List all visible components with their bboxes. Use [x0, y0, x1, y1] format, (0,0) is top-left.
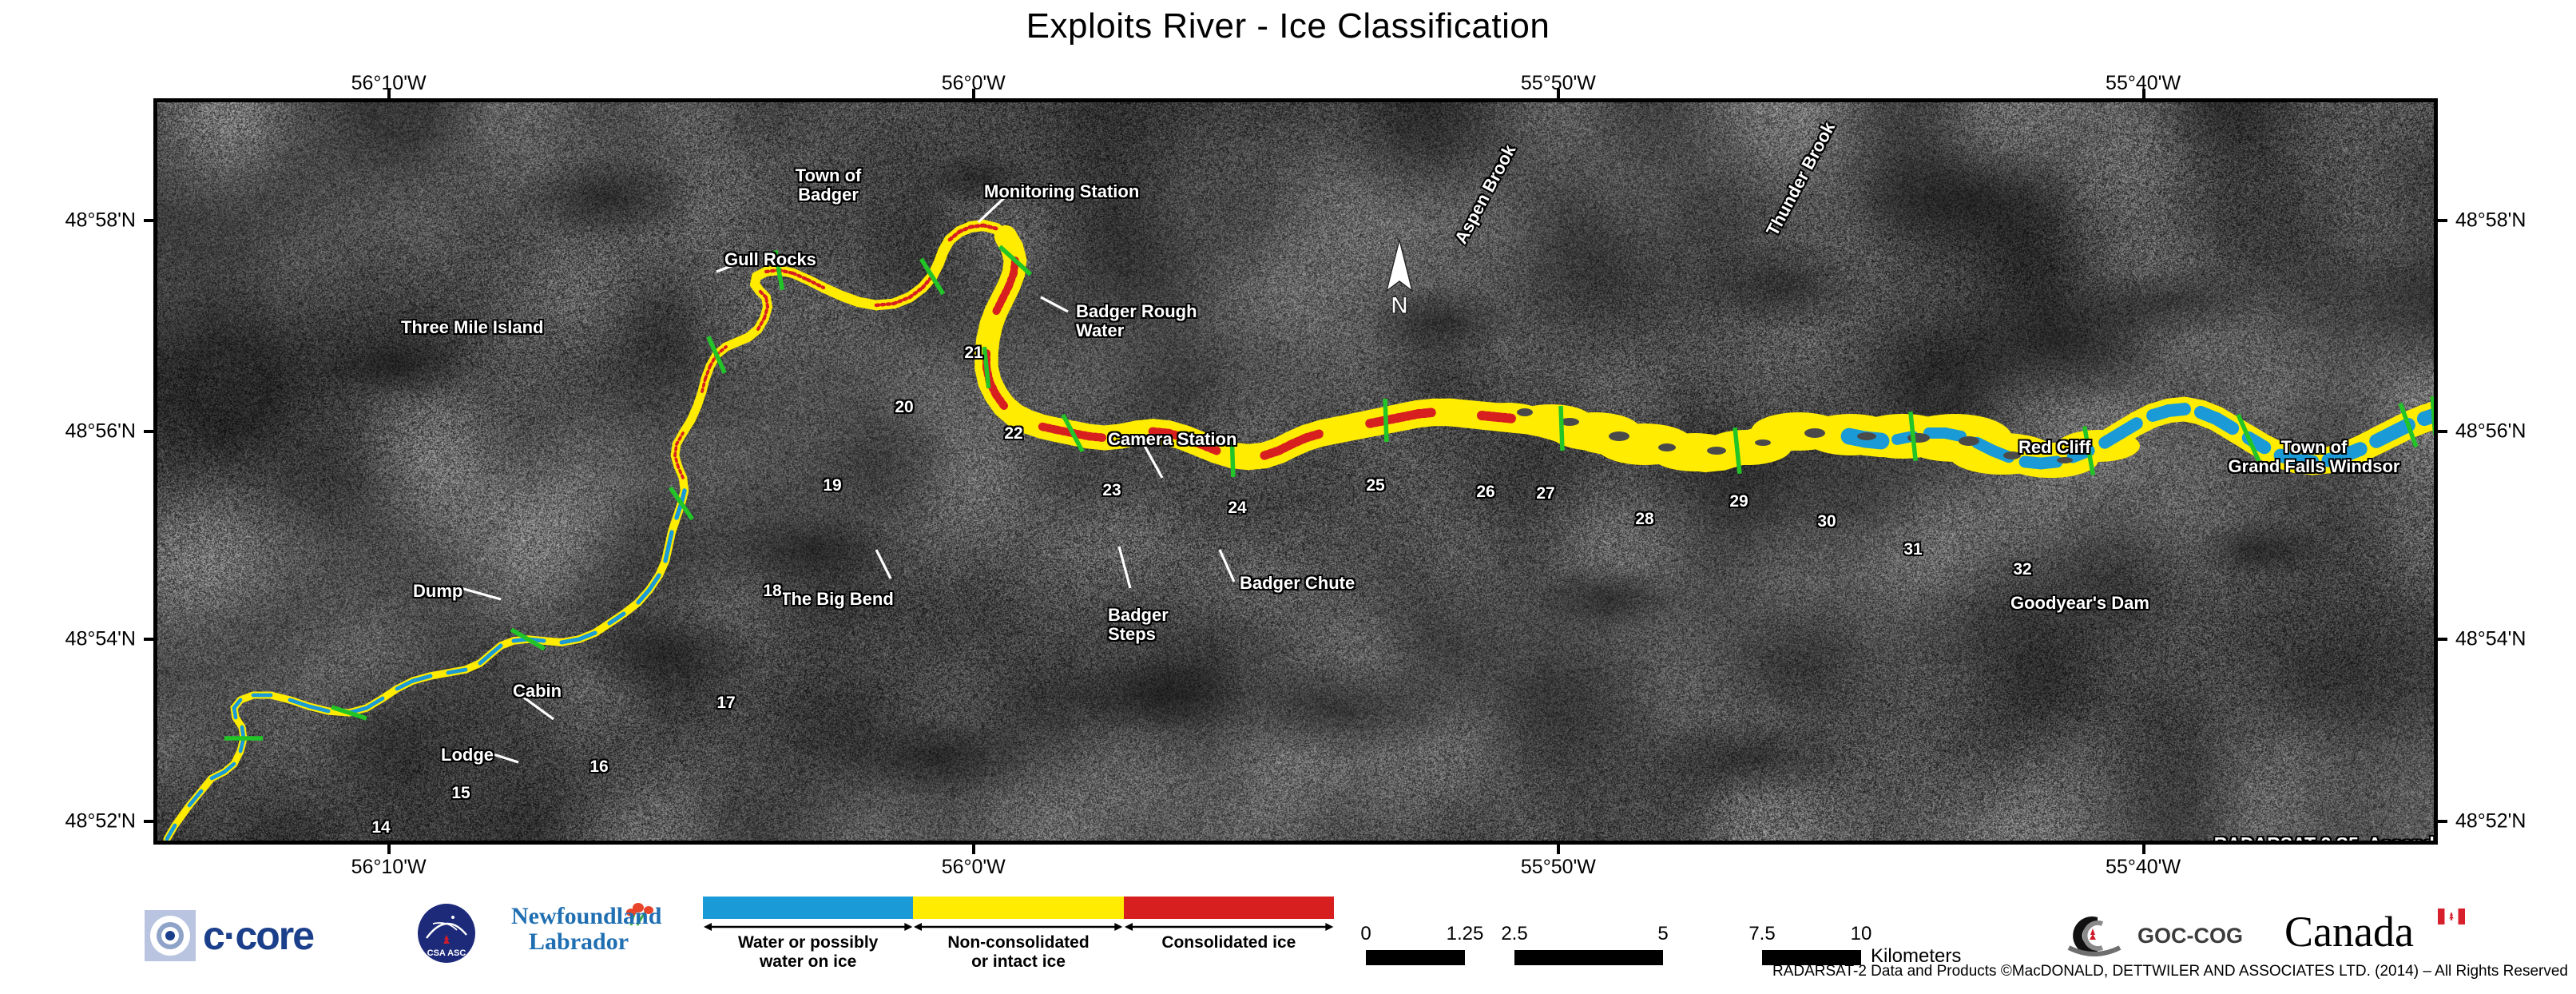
acquisition-sensor: RADARSAT-2 S5 Ascending [2142, 833, 2438, 845]
map-canvas[interactable]: N RADARSAT-2 S5 Ascending February 5, 20… [153, 98, 2438, 845]
legend-caption-non-consolidated-or-intact-ice: Non-consolidated or intact ice [947, 933, 1089, 972]
canada-wordmark-logo: Canada [2284, 907, 2484, 963]
svg-text:CSA ASC: CSA ASC [427, 948, 466, 958]
legend-swatch-non-consolidated-or-intact-ice [913, 897, 1123, 919]
legend-caption-consolidated-ice: Consolidated ice [1161, 933, 1296, 952]
acquisition-info: RADARSAT-2 S5 Ascending February 5, 2014… [2142, 791, 2438, 845]
nl-wordmark-line2: Labrador [529, 928, 629, 956]
scale-tick-0: 0 [1360, 923, 1371, 945]
longitude-tick-mark [972, 89, 975, 98]
north-arrow-icon: N [1375, 237, 1423, 316]
svg-text:N: N [1391, 292, 1408, 316]
latitude-tick-mark [144, 219, 153, 222]
legend-swatch-consolidated-ice [1124, 897, 1334, 919]
latitude-tick-label: 48°56'N [2455, 420, 2526, 443]
legend-caption-water-or-possibly-water-on-ice: Water or possibly water on ice [738, 933, 878, 972]
latitude-tick-mark [2438, 820, 2447, 823]
newfoundland-labrador-logo: Newfoundland Labrador [511, 901, 663, 964]
latitude-tick-mark [144, 820, 153, 823]
longitude-tick-mark [972, 845, 975, 854]
copyright-credit: RADARSAT-2 Data and Products ©MacDONALD,… [1772, 963, 2568, 980]
longitude-tick-mark [387, 845, 391, 854]
goc-swoosh-icon [2061, 912, 2134, 959]
latitude-tick-label: 48°58'N [65, 209, 136, 233]
latitude-tick-label: 48°54'N [2455, 628, 2526, 651]
legend-swatch-water-or-possibly-water-on-ice [703, 897, 913, 919]
longitude-tick-label: 55°40'W [2106, 856, 2181, 879]
scale-tick-10: 10 [1851, 923, 1872, 945]
latitude-tick-mark [2438, 219, 2447, 222]
legend-range-arrow-non-consolidated-or-intact-ice [913, 920, 1123, 933]
longitude-tick-label: 55°50'W [1521, 856, 1596, 879]
scale-tick-5: 5 [1657, 923, 1668, 945]
canada-wordmark: Canada [2284, 907, 2414, 956]
ccore-wordmark: c·core [203, 912, 313, 959]
longitude-tick-label: 56°10'W [351, 856, 427, 879]
longitude-tick-mark [1557, 845, 1560, 854]
latitude-tick-label: 48°52'N [65, 810, 136, 833]
legend-range-arrow-water-or-possibly-water-on-ice [703, 920, 913, 933]
ice-class-legend: Water or possibly water on iceNon-consol… [703, 897, 1334, 984]
river-ice-classification-overlay [157, 102, 2434, 841]
longitude-tick-mark [2142, 845, 2145, 854]
longitude-tick-mark [1557, 89, 1560, 98]
ccore-logo: c·core [144, 909, 359, 962]
longitude-tick-mark [2142, 89, 2145, 98]
canada-flag-icon [2438, 909, 2465, 924]
csa-emblem-icon: CSA ASC [415, 903, 478, 964]
csa-asc-logo: CSA ASC [415, 903, 478, 964]
latitude-tick-mark [144, 638, 153, 641]
legend-range-arrow-consolidated-ice [1124, 920, 1334, 933]
goc-cog-logo: GOC-COG [2061, 912, 2245, 960]
scale-tick-2-5: 2.5 [1501, 923, 1527, 945]
latitude-tick-label: 48°54'N [65, 628, 136, 651]
latitude-tick-label: 48°52'N [2455, 810, 2526, 833]
latitude-tick-mark [2438, 638, 2447, 641]
page-title: Exploits River - Ice Classification [0, 6, 2576, 46]
latitude-tick-label: 48°56'N [65, 420, 136, 443]
goc-wordmark: GOC-COG [2137, 924, 2243, 948]
longitude-tick-label: 56°0'W [942, 856, 1006, 879]
nl-wordmark-line1: Newfoundland [511, 903, 661, 930]
latitude-tick-label: 48°58'N [2455, 209, 2526, 233]
ccore-mark-icon [144, 909, 196, 962]
latitude-tick-mark [2438, 430, 2447, 433]
longitude-tick-mark [387, 89, 391, 98]
scale-tick-1-25: 1.25 [1447, 923, 1484, 945]
latitude-tick-mark [144, 430, 153, 433]
scale-tick-7-5: 7.5 [1748, 923, 1775, 945]
